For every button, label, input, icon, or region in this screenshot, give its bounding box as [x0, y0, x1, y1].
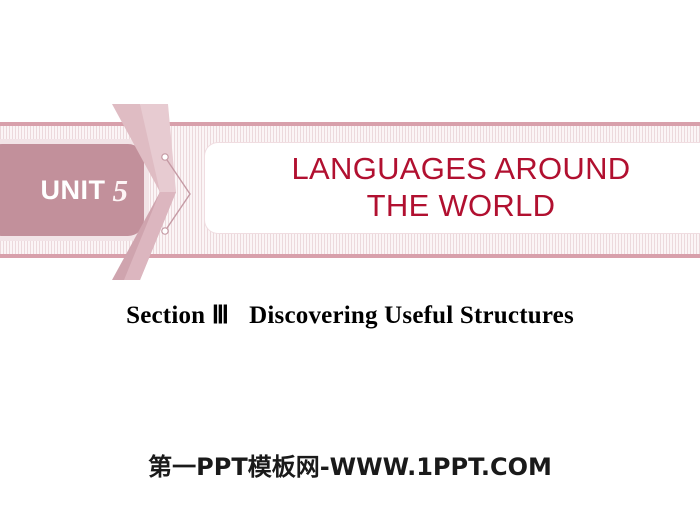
- section-topic: Discovering Useful Structures: [249, 302, 574, 329]
- thin-chevron-outline-decoration: [160, 152, 200, 236]
- title-line-2: THE WORLD: [367, 188, 556, 225]
- slide-root: { "slide": { "background_color": "#fffff…: [0, 0, 700, 525]
- title-card: LANGUAGES AROUND THE WORLD: [205, 143, 700, 233]
- footer-watermark: 第一PPT模板网-WWW.1PPT.COM: [0, 447, 700, 482]
- section-label: Section Ⅲ: [126, 302, 229, 329]
- thin-chevron-icon: [160, 152, 200, 236]
- section-heading: Section ⅢDiscovering Useful Structures: [0, 300, 700, 330]
- title-line-1: LANGUAGES AROUND: [292, 151, 631, 188]
